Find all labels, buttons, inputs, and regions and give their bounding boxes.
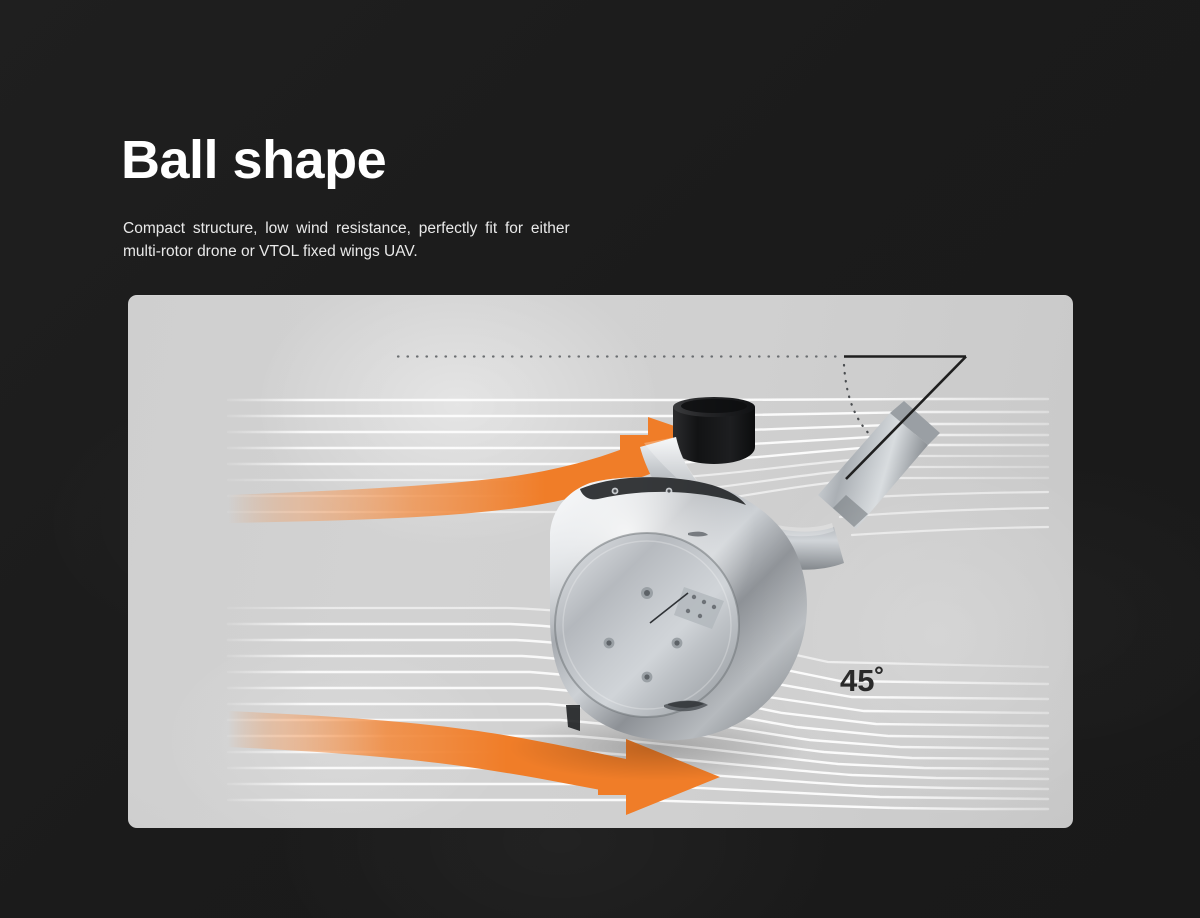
- angle-arc-dotted: [844, 365, 872, 437]
- page-subtitle-line-2: multi-rotor drone or VTOL fixed wings UA…: [123, 240, 683, 263]
- angle-value-label: 45˚: [840, 663, 885, 699]
- angle-leg-diagonal: [846, 357, 966, 480]
- page-subtitle: Compact structure, low wind resistance, …: [123, 217, 683, 263]
- angle-annotation: [128, 295, 1073, 828]
- ball-shape-illustration-panel: 45˚: [128, 295, 1073, 828]
- ball-shape-product-slide: Ball shape Compact structure, low wind r…: [0, 0, 1200, 918]
- page-subtitle-line-1: Compact structure, low wind resistance, …: [123, 217, 683, 240]
- page-title: Ball shape: [121, 132, 386, 189]
